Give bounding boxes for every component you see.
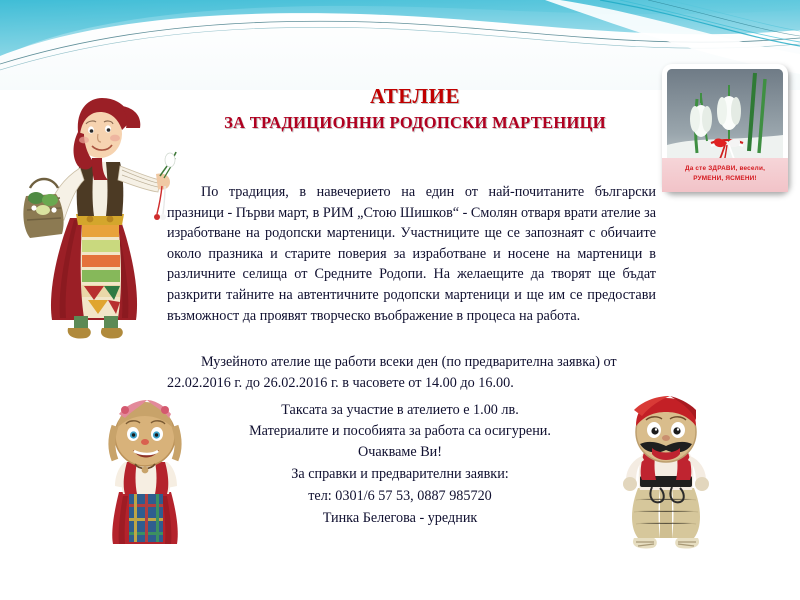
greeting-caption-line-2: РУМЕНИ, ЯСМЕНИ! <box>662 174 788 184</box>
greeting-card: Да сте ЗДРАВИ, весели, РУМЕНИ, ЯСМЕНИ! <box>662 64 788 192</box>
schedule-paragraph: Музейното ателие ще работи всеки ден (по… <box>167 352 656 393</box>
greeting-caption-line-1: Да сте ЗДРАВИ, весели, <box>662 164 788 174</box>
intro-paragraph: По традиция, в навечерието на един от на… <box>167 182 656 326</box>
poster-title-subtitle: ЗА ТРАДИЦИОННИ РОДОПСКИ МАРТЕНИЦИ <box>175 113 655 133</box>
greeting-card-caption: Да сте ЗДРАВИ, весели, РУМЕНИ, ЯСМЕНИ! <box>662 158 788 192</box>
poster-title-main: АТЕЛИЕ <box>175 84 655 108</box>
martenitsa-doll-penda <box>85 392 205 552</box>
baba-marta-illustration <box>18 88 178 346</box>
poster-slide: АТЕЛИЕ ЗА ТРАДИЦИОННИ РОДОПСКИ МАРТЕНИЦИ <box>0 0 800 600</box>
martenitsa-doll-pizho <box>608 392 723 552</box>
poster-title-block: АТЕЛИЕ ЗА ТРАДИЦИОННИ РОДОПСКИ МАРТЕНИЦИ <box>175 84 655 133</box>
